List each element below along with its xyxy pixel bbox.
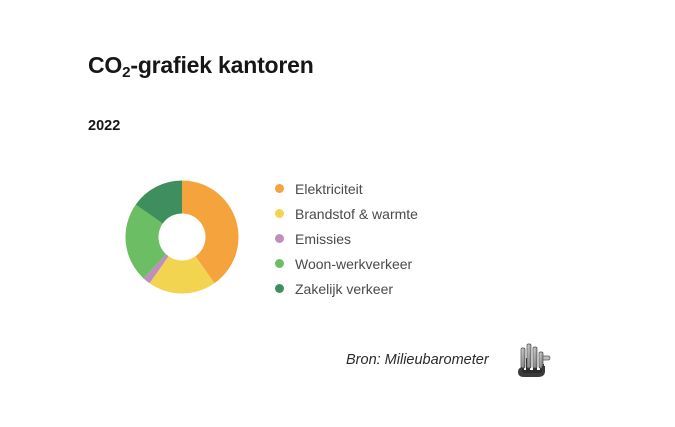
legend-item-label: Zakelijk verkeer — [295, 282, 393, 296]
page-title: CO2-grafiek kantoren — [88, 52, 314, 79]
legend-color-swatch-icon — [275, 259, 284, 268]
donut-chart — [100, 158, 260, 310]
page-title-rest: -grafiek kantoren — [130, 52, 313, 78]
donut-chart-svg — [100, 158, 260, 310]
legend-color-swatch-icon — [275, 234, 284, 243]
legend-color-swatch-icon — [275, 184, 284, 193]
legend-item-woon-werkverkeer[interactable]: Woon-werkverkeer — [275, 253, 418, 274]
donut-center-hole — [159, 214, 206, 261]
milieubarometer-logo-icon — [513, 340, 551, 380]
chart-subtitle-year: 2022 — [88, 118, 120, 134]
legend-item-elektriciteit[interactable]: Elektriciteit — [275, 178, 418, 199]
legend-item-label: Brandstof & warmte — [295, 207, 418, 221]
legend-item-label: Woon-werkverkeer — [295, 257, 412, 271]
chart-canvas: CO2-grafiek kantoren 2022 Elektriciteit … — [0, 0, 675, 427]
page-title-main: CO — [88, 52, 122, 78]
plot-area: Elektriciteit Brandstof & warmte Emissie… — [100, 158, 520, 313]
legend-item-label: Emissies — [295, 232, 351, 246]
legend-item-emissies[interactable]: Emissies — [275, 228, 418, 249]
legend-item-label: Elektriciteit — [295, 182, 363, 196]
page-title-subscript: 2 — [122, 64, 130, 81]
legend-item-brandstof-warmte[interactable]: Brandstof & warmte — [275, 203, 418, 224]
source-text: Bron: Milieubarometer — [346, 352, 489, 368]
chart-legend: Elektriciteit Brandstof & warmte Emissie… — [275, 178, 418, 299]
legend-item-zakelijk-verkeer[interactable]: Zakelijk verkeer — [275, 278, 418, 299]
legend-color-swatch-icon — [275, 284, 284, 293]
legend-color-swatch-icon — [275, 209, 284, 218]
source-attribution: Bron: Milieubarometer — [346, 340, 551, 380]
